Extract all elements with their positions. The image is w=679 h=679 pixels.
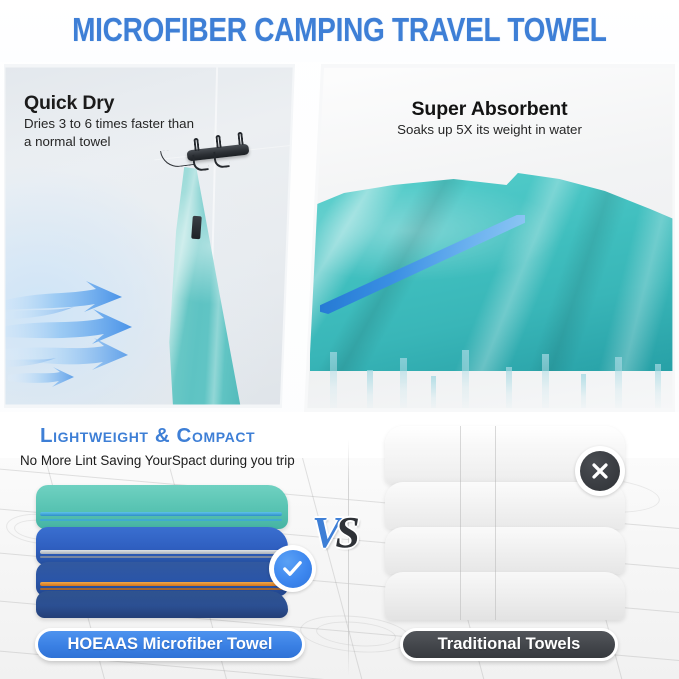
traditional-towel-stack	[385, 426, 625, 626]
vs-letter-s: S	[335, 508, 357, 557]
comparison-subtitle: No More Lint Saving YourSpact during you…	[20, 453, 295, 468]
panel-super-absorbent: Super Absorbent Soaks up 5X its weight i…	[304, 64, 675, 412]
status-badge-x	[575, 446, 625, 496]
quick-dry-subtitle: Dries 3 to 6 times faster than a normal …	[24, 115, 204, 150]
super-absorbent-title: Super Absorbent	[304, 98, 675, 121]
list-item	[36, 485, 288, 529]
vs-separator: VS	[312, 511, 358, 555]
panel-comparison: Lightweight & Compact No More Lint Savin…	[0, 412, 679, 679]
water-drip-icon	[310, 344, 675, 410]
page-title: MICROFIBER CAMPING TRAVEL TOWEL	[72, 12, 607, 50]
header-banner: MICROFIBER CAMPING TRAVEL TOWEL	[0, 0, 679, 62]
x-glyph	[589, 460, 611, 482]
quick-dry-title: Quick Dry	[24, 92, 114, 115]
panel-quick-dry: Quick Dry Dries 3 to 6 times faster than…	[4, 64, 295, 408]
list-item	[36, 591, 288, 618]
airflow-arrows-icon	[4, 279, 200, 408]
rack-wire	[160, 147, 195, 169]
product-infographic: MICROFIBER CAMPING TRAVEL TOWEL Quick Dr…	[0, 0, 679, 679]
label-traditional-towels: Traditional Towels	[400, 628, 618, 661]
list-item	[36, 527, 288, 565]
check-icon	[274, 550, 312, 588]
comparison-title: Lightweight & Compact	[40, 424, 255, 448]
panel-super-absorbent-background: Super Absorbent Soaks up 5X its weight i…	[304, 64, 675, 412]
wet-microfiber-towel	[310, 171, 675, 371]
status-badge-check	[269, 545, 316, 592]
rack-knob	[193, 138, 199, 151]
microfiber-towel-stack	[36, 485, 288, 618]
check-glyph	[281, 557, 304, 580]
rack-knob	[215, 135, 221, 148]
panel-quick-dry-background: Quick Dry Dries 3 to 6 times faster than…	[4, 64, 295, 408]
towel-hook-rack-icon	[183, 132, 258, 172]
x-icon	[580, 451, 620, 491]
rack-hook	[213, 150, 230, 168]
super-absorbent-subtitle: Soaks up 5X its weight in water	[304, 122, 675, 137]
towel-folds	[310, 171, 675, 371]
list-item	[385, 527, 625, 574]
rack-knob	[237, 132, 243, 145]
comparison-divider	[348, 440, 349, 676]
top-feature-row: Quick Dry Dries 3 to 6 times faster than…	[0, 60, 679, 412]
label-microfiber-towel: HOEAAS Microfiber Towel	[35, 628, 305, 661]
airflow-arrows-svg	[4, 279, 200, 408]
list-item	[385, 572, 625, 620]
towel-clip-icon	[191, 216, 202, 240]
